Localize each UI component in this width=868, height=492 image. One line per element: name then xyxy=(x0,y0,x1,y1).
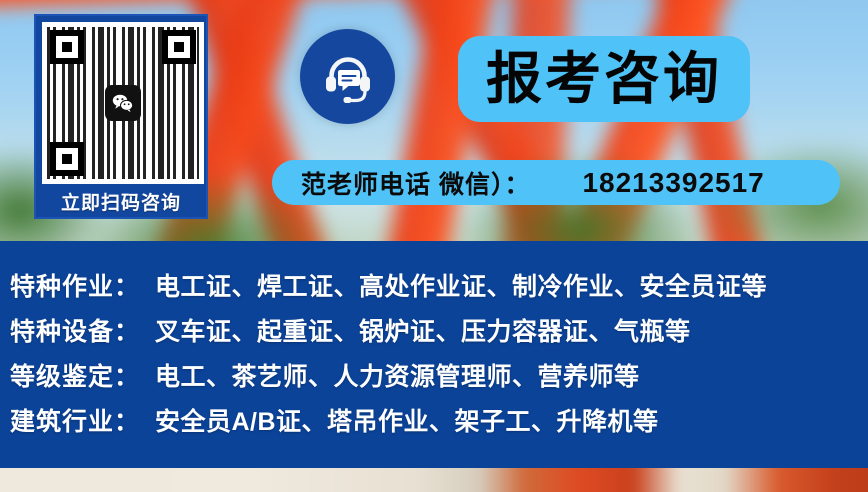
info-row-category: 特种设备： xyxy=(10,312,155,348)
qr-finder-top-left xyxy=(50,30,84,64)
qr-card-label: 立即扫码咨询 xyxy=(42,184,200,218)
info-row: 建筑行业： 安全员A/B证、塔吊作业、架子工、升降机等 xyxy=(10,402,868,447)
qr-code-image[interactable] xyxy=(42,22,204,184)
title-pill[interactable]: 报考咨询 xyxy=(458,36,750,122)
poster-canvas: 立即扫码咨询 报考咨询 范老师电话 微信）： 18213392517 xyxy=(0,0,868,492)
info-row-category: 特种作业： xyxy=(10,267,155,303)
qr-finder-bottom-left xyxy=(50,142,84,176)
headset-support-icon[interactable] xyxy=(300,29,395,124)
info-row-value: 电工证、焊工证、高处作业证、制冷作业、安全员证等 xyxy=(155,267,767,303)
qr-code-card[interactable]: 立即扫码咨询 xyxy=(34,14,208,219)
info-row-category: 建筑行业： xyxy=(10,402,155,438)
info-row-value: 叉车证、起重证、锅炉证、压力容器证、气瓶等 xyxy=(155,312,691,348)
bottom-strip-photo xyxy=(0,468,868,492)
info-row-value: 安全员A/B证、塔吊作业、架子工、升降机等 xyxy=(155,402,659,438)
contact-label: 范老师电话 微信）： xyxy=(301,165,530,201)
info-row-category: 等级鉴定： xyxy=(10,357,155,393)
contact-phone-number[interactable]: 18213392517 xyxy=(582,167,764,199)
bottom-photo-strip xyxy=(0,468,868,492)
title-pill-label: 报考咨询 xyxy=(486,51,722,107)
qr-finder-top-right xyxy=(162,30,196,64)
info-row-value: 电工、茶艺师、人力资源管理师、营养师等 xyxy=(155,357,640,393)
wechat-icon xyxy=(105,85,141,121)
contact-pill[interactable]: 范老师电话 微信）： 18213392517 xyxy=(272,160,840,205)
course-categories-panel: 特种作业： 电工证、焊工证、高处作业证、制冷作业、安全员证等 特种设备： 叉车证… xyxy=(0,241,868,468)
info-row: 特种作业： 电工证、焊工证、高处作业证、制冷作业、安全员证等 xyxy=(10,267,868,312)
info-row: 等级鉴定： 电工、茶艺师、人力资源管理师、营养师等 xyxy=(10,357,868,402)
info-row: 特种设备： 叉车证、起重证、锅炉证、压力容器证、气瓶等 xyxy=(10,312,868,357)
